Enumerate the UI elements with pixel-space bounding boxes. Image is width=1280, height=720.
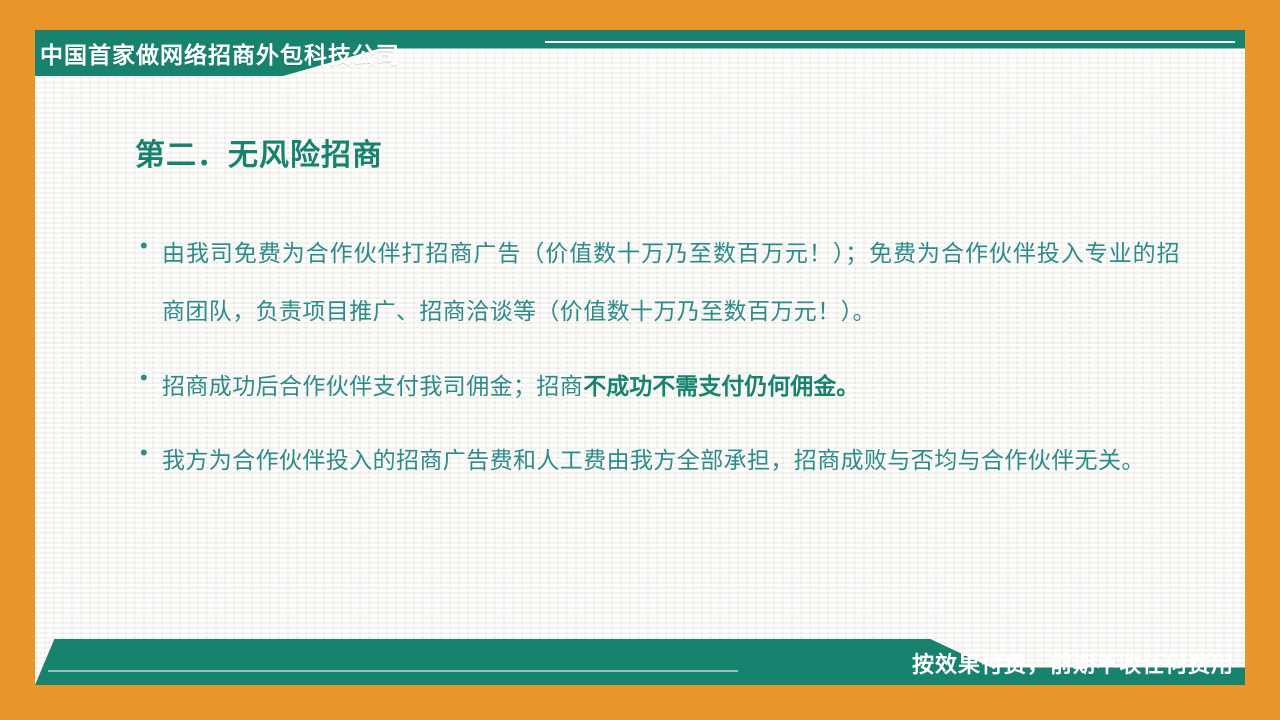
company-tagline: 中国首家做网络招商外包科技公司 xyxy=(40,31,400,75)
slide-content: 第二．无风险招商 •由我司免费为合作伙伴打招商广告（价值数十万乃至数百万元！）；… xyxy=(35,90,1245,610)
bullet-text: 招商成功后合作伙伴支付我司佣金；招商不成功不需支付仍何佣金。 xyxy=(162,357,1180,416)
bullet-segment: 招商成功后合作伙伴支付我司佣金；招商 xyxy=(162,374,583,399)
bullet-text: 我方为合作伙伴投入的招商广告费和人工费由我方全部承担，招商成败与否均与合作伙伴无… xyxy=(162,432,1180,490)
bullet-item: •招商成功后合作伙伴支付我司佣金；招商不成功不需支付仍何佣金。 xyxy=(140,357,1180,416)
bullet-item: •由我司免费为合作伙伴打招商广告（价值数十万乃至数百万元！）；免费为合作伙伴投入… xyxy=(140,225,1180,341)
bullet-marker-icon: • xyxy=(140,357,162,399)
page-title: 第二．无风险招商 xyxy=(135,130,383,174)
bullet-marker-icon: • xyxy=(140,225,162,267)
footer-divider-line xyxy=(48,670,738,672)
bullet-segment: 由我司免费为合作伙伴打招商广告（价值数十万乃至数百万元！）；免费为合作伙伴投入专… xyxy=(162,241,1180,324)
bullet-marker-icon: • xyxy=(140,432,162,474)
header-divider-line xyxy=(545,41,1235,43)
bullet-item: •我方为合作伙伴投入的招商广告费和人工费由我方全部承担，招商成败与否均与合作伙伴… xyxy=(140,432,1180,490)
bullet-emphasis: 不成功不需支付仍何佣金。 xyxy=(583,373,859,399)
bullet-text: 由我司免费为合作伙伴打招商广告（价值数十万乃至数百万元！）；免费为合作伙伴投入专… xyxy=(162,225,1180,341)
bullet-list: •由我司免费为合作伙伴打招商广告（价值数十万乃至数百万元！）；免费为合作伙伴投入… xyxy=(140,225,1180,506)
bullet-segment: 我方为合作伙伴投入的招商广告费和人工费由我方全部承担，招商成败与否均与合作伙伴无… xyxy=(162,448,1145,473)
footer-slogan: 按效果付费，前期不收任何费用 xyxy=(912,642,1234,684)
